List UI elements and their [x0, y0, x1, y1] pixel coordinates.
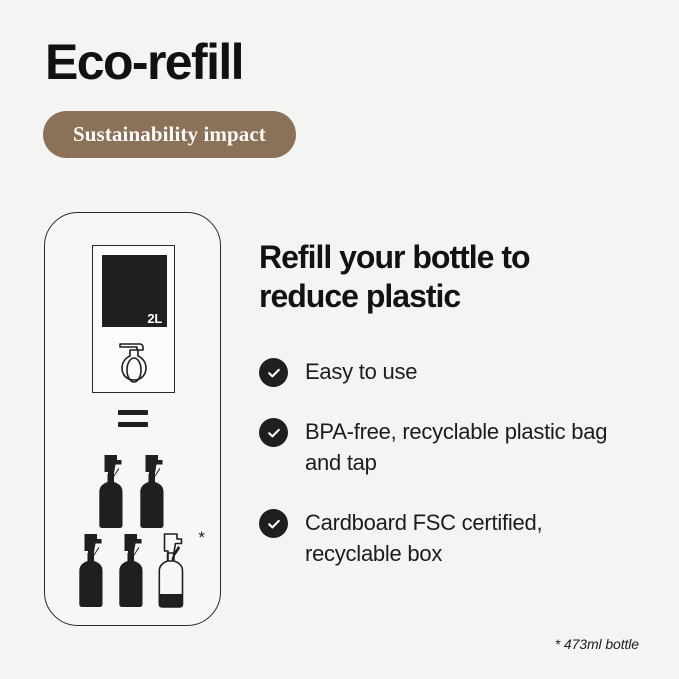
list-item: BPA-free, recyclable plastic bag and tap: [259, 416, 659, 478]
list-item: Cardboard FSC certified, recyclable box: [259, 507, 659, 569]
tap-spout-icon: [112, 338, 156, 384]
status-badge: Sustainability impact: [43, 111, 296, 158]
footnote: * 473ml bottle: [555, 636, 639, 652]
product-illustration-card: 2L: [44, 212, 221, 626]
asterisk-marker-icon: *: [198, 529, 205, 546]
spray-bottle-icon: [75, 531, 110, 610]
refill-carton-icon: 2L: [92, 245, 175, 393]
check-circle-icon: [259, 509, 288, 538]
spray-bottle-icon: [115, 531, 150, 610]
spray-bottle-outline-icon: [155, 531, 190, 610]
list-item-label: Easy to use: [305, 356, 417, 387]
check-circle-icon: [259, 418, 288, 447]
eco-refill-infographic: Eco-refill Sustainability impact 2L: [0, 0, 679, 679]
check-circle-icon: [259, 358, 288, 387]
headline: Refill your bottle to reduce plastic: [259, 238, 619, 316]
spray-bottle-icon: [136, 452, 171, 531]
equals-bar-bottom: [118, 422, 148, 427]
equals-bar-top: [118, 410, 148, 415]
feature-list: Easy to use BPA-free, recyclable plastic…: [259, 356, 659, 569]
status-badge-label: Sustainability impact: [73, 122, 266, 147]
partial-bottle-wrapper: *: [155, 531, 190, 610]
list-item-label: Cardboard FSC certified, recyclable box: [305, 507, 635, 569]
list-item-label: BPA-free, recyclable plastic bag and tap: [305, 416, 635, 478]
spray-bottle-icon: [95, 452, 130, 531]
carton-size-label: 2L: [147, 312, 162, 325]
bottle-row-two: [45, 452, 220, 531]
carton-label-panel: 2L: [102, 255, 167, 327]
page-title: Eco-refill: [45, 33, 243, 91]
list-item: Easy to use: [259, 356, 659, 387]
bottle-row-three: *: [45, 531, 220, 610]
equals-sign-icon: [118, 410, 148, 427]
